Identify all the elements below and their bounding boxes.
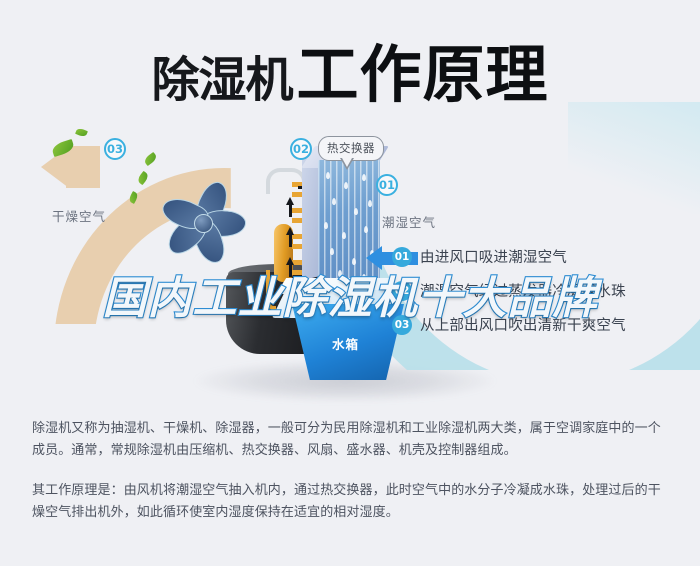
callout-badge-03: 03 bbox=[104, 138, 126, 160]
flow-arrow-stem bbox=[289, 204, 292, 217]
water-droplet-icon bbox=[368, 200, 372, 207]
flow-arrow-up-icon bbox=[286, 197, 294, 205]
page-title: 除湿机工作原理 bbox=[0, 24, 700, 114]
callout-badge-02: 02 bbox=[290, 138, 312, 160]
fan-illustration bbox=[168, 166, 260, 276]
page-root: 除湿机工作原理 干燥空气 bbox=[0, 0, 700, 566]
water-droplet-icon bbox=[364, 226, 368, 233]
flow-arrow-up-icon bbox=[286, 227, 294, 235]
water-tank-label: 水箱 bbox=[332, 334, 359, 353]
fan-hub bbox=[194, 214, 213, 233]
water-droplet-icon bbox=[342, 232, 346, 239]
page-title-prefix: 除湿机 bbox=[151, 52, 292, 108]
body-paragraph-2: 其工作原理是：由风机将潮湿空气抽入机内，通过热交换器，此时空气中的水分子冷凝成水… bbox=[32, 480, 672, 524]
leaf-icon bbox=[75, 127, 88, 138]
water-droplet-icon bbox=[324, 222, 328, 229]
callout-badge-01: 01 bbox=[376, 174, 398, 196]
flow-arrow-stem bbox=[289, 234, 292, 247]
water-droplet-icon bbox=[344, 182, 348, 189]
water-droplet-icon bbox=[354, 208, 358, 215]
water-droplet-icon bbox=[362, 174, 366, 181]
page-title-main: 工作原理 bbox=[297, 38, 549, 111]
dry-air-arrow-tail bbox=[66, 146, 100, 188]
body-copy: 除湿机又称为抽湿机、干燥机、除湿器，一般可分为民用除湿机和工业除湿机两大类，属于… bbox=[32, 418, 672, 524]
watermark-text: 国内工业除湿机十大品牌 bbox=[0, 262, 700, 326]
body-paragraph-1: 除湿机又称为抽湿机、干燥机、除湿器，一般可分为民用除湿机和工业除湿机两大类，属于… bbox=[32, 418, 672, 462]
callout-bubble-tail-icon bbox=[340, 158, 354, 170]
dry-air-label: 干燥空气 bbox=[52, 206, 106, 225]
water-droplet-icon bbox=[332, 198, 336, 205]
water-droplet-icon bbox=[326, 172, 330, 179]
humid-air-label: 潮湿空气 bbox=[382, 212, 436, 231]
water-droplet-icon bbox=[330, 248, 334, 255]
